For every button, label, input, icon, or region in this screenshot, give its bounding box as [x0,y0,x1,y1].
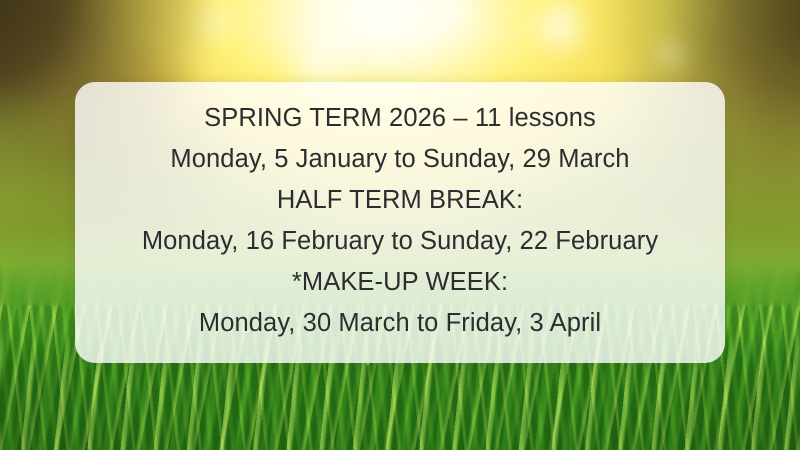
notice-line-term-dates: Monday, 5 January to Sunday, 29 March [170,139,629,180]
notice-text-block: SPRING TERM 2026 – 11 lessons Monday, 5 … [93,98,707,344]
notice-line-half-term-label: HALF TERM BREAK: [277,180,523,221]
notice-line-make-up-label: *MAKE-UP WEEK: [292,262,508,303]
notice-line-make-up-dates: Monday, 30 March to Friday, 3 April [199,303,601,344]
spring-term-notice-graphic: SPRING TERM 2026 – 11 lessons Monday, 5 … [0,0,800,450]
notice-line-term-title: SPRING TERM 2026 – 11 lessons [204,98,596,139]
notice-card: SPRING TERM 2026 – 11 lessons Monday, 5 … [75,82,725,363]
notice-line-half-term-dates: Monday, 16 February to Sunday, 22 Februa… [142,221,658,262]
